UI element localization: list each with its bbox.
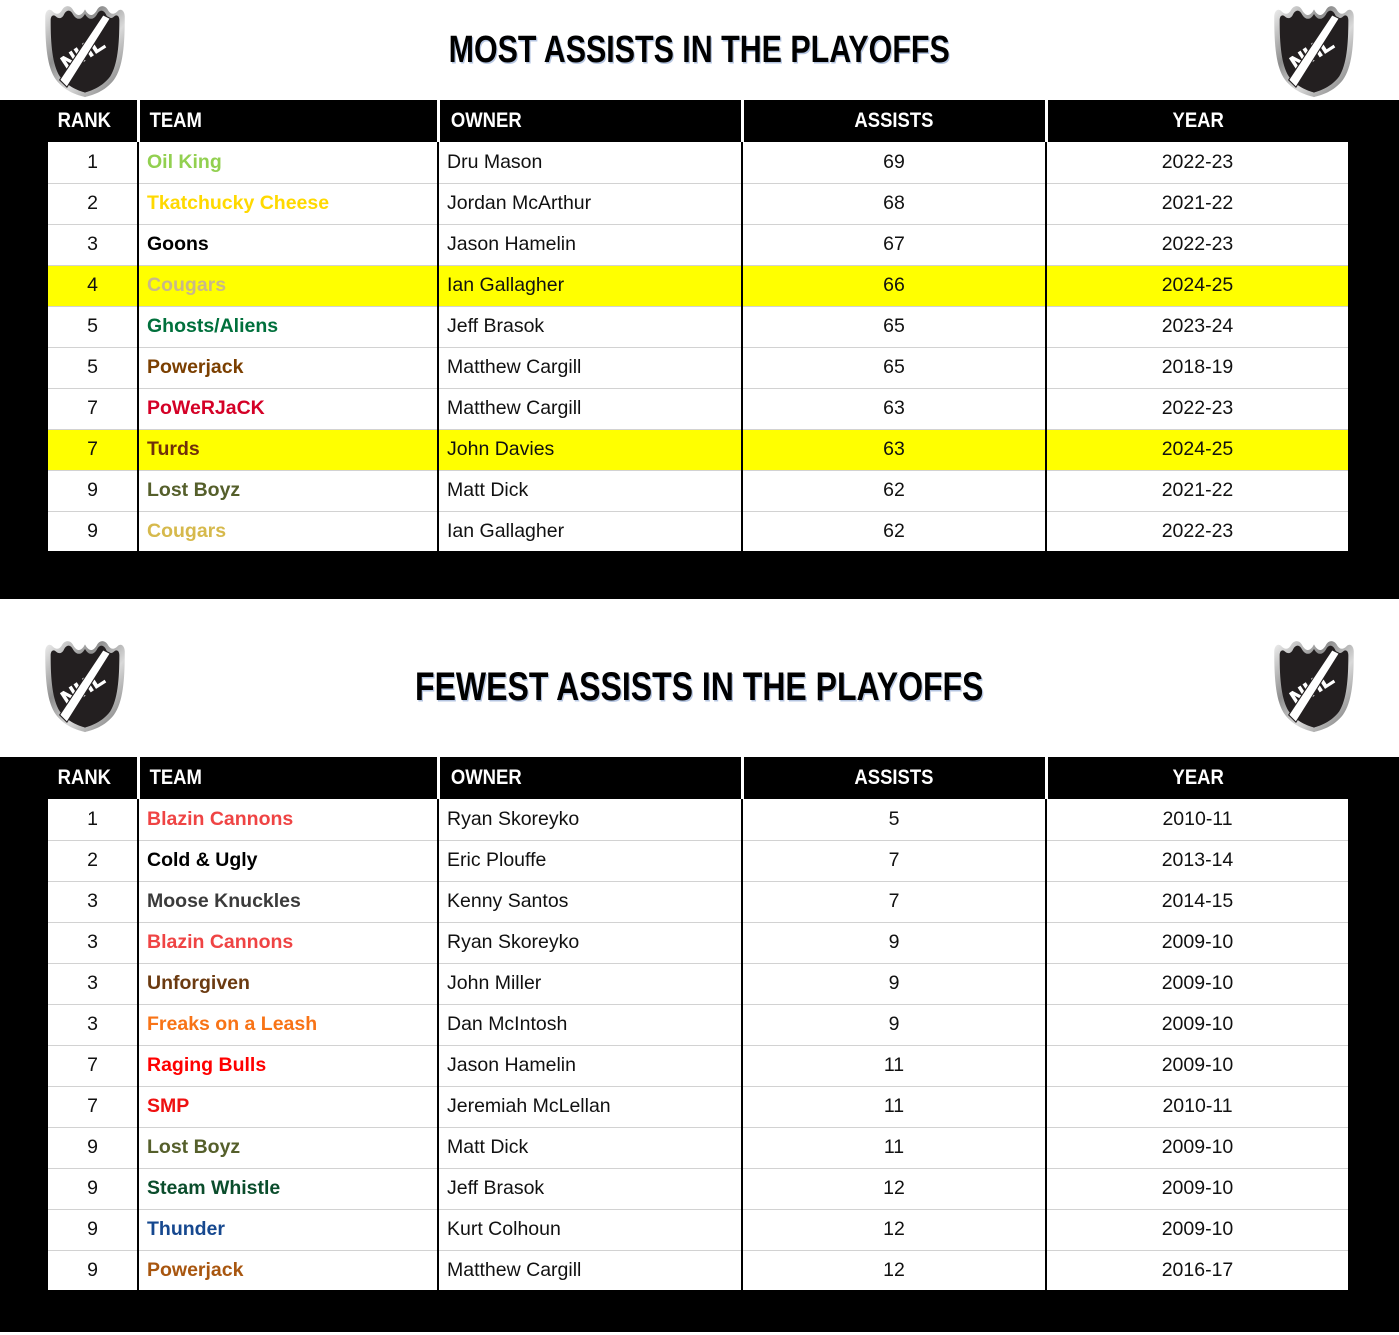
table-row[interactable]: 4CougarsIan Gallagher662024-25: [48, 265, 1348, 306]
column-header-rank[interactable]: RANK: [48, 757, 138, 799]
cell-owner: Jason Hamelin: [438, 1045, 742, 1086]
cell-year: 2013-14: [1046, 840, 1348, 881]
cell-team: Cougars: [138, 265, 438, 306]
cell-owner: Ian Gallagher: [438, 511, 742, 552]
cell-assists: 7: [742, 840, 1046, 881]
cell-year: 2021-22: [1046, 183, 1348, 224]
cell-team: Thunder: [138, 1209, 438, 1250]
cell-team: Cougars: [138, 511, 438, 552]
cell-assists: 9: [742, 922, 1046, 963]
cell-team: Unforgiven: [138, 963, 438, 1004]
column-header-assists[interactable]: ASSISTS: [742, 100, 1046, 142]
cell-team: Tkatchucky Cheese: [138, 183, 438, 224]
cell-rank: 3: [48, 922, 138, 963]
cell-owner: Jeff Brasok: [438, 1168, 742, 1209]
cell-team: Goons: [138, 224, 438, 265]
cell-owner: Matthew Cargill: [438, 388, 742, 429]
cell-year: 2022-23: [1046, 142, 1348, 183]
table-row[interactable]: 9PowerjackMatthew Cargill122016-17: [48, 1250, 1348, 1291]
panels-host: NHL MOST ASSISTS IN THE PLAYOFFS NHL RAN…: [0, 0, 1399, 1332]
table-row[interactable]: 9Steam WhistleJeff Brasok122009-10: [48, 1168, 1348, 1209]
cell-year: 2023-24: [1046, 306, 1348, 347]
cell-team: Steam Whistle: [138, 1168, 438, 1209]
table-row[interactable]: 7Raging BullsJason Hamelin112009-10: [48, 1045, 1348, 1086]
cell-assists: 62: [742, 470, 1046, 511]
table-row[interactable]: 3GoonsJason Hamelin672022-23: [48, 224, 1348, 265]
cell-assists: 11: [742, 1127, 1046, 1168]
cell-assists: 62: [742, 511, 1046, 552]
cell-year: 2016-17: [1046, 1250, 1348, 1291]
cell-assists: 65: [742, 347, 1046, 388]
table-row[interactable]: 1Blazin CannonsRyan Skoreyko52010-11: [48, 799, 1348, 840]
cell-rank: 1: [48, 142, 138, 183]
cell-assists: 69: [742, 142, 1046, 183]
table-row[interactable]: 9Lost BoyzMatt Dick112009-10: [48, 1127, 1348, 1168]
cell-assists: 12: [742, 1209, 1046, 1250]
column-header-label: RANK: [58, 109, 111, 133]
panel-title: FEWEST ASSISTS IN THE PLAYOFFS: [415, 665, 983, 710]
cell-owner: Jeremiah McLellan: [438, 1086, 742, 1127]
cell-rank: 9: [48, 1209, 138, 1250]
cell-assists: 65: [742, 306, 1046, 347]
table-row[interactable]: 7PoWeRJaCKMatthew Cargill632022-23: [48, 388, 1348, 429]
panel-title: MOST ASSISTS IN THE PLAYOFFS: [449, 29, 950, 72]
cell-owner: John Miller: [438, 963, 742, 1004]
cell-team: Powerjack: [138, 347, 438, 388]
table-row[interactable]: 9Lost BoyzMatt Dick622021-22: [48, 470, 1348, 511]
panel-footer-bar: [0, 553, 1399, 599]
cell-team: Freaks on a Leash: [138, 1004, 438, 1045]
column-header-label: YEAR: [1172, 109, 1223, 133]
table-container: RANKTEAMOWNERASSISTSYEAR1Oil KingDru Mas…: [0, 100, 1399, 553]
cell-owner: Matthew Cargill: [438, 1250, 742, 1291]
cell-rank: 2: [48, 183, 138, 224]
table-row[interactable]: 3Freaks on a LeashDan McIntosh92009-10: [48, 1004, 1348, 1045]
cell-owner: Matt Dick: [438, 470, 742, 511]
leaderboard-table: RANKTEAMOWNERASSISTSYEAR1Blazin CannonsR…: [48, 757, 1348, 1292]
cell-team: Ghosts/Aliens: [138, 306, 438, 347]
leaderboard-table: RANKTEAMOWNERASSISTSYEAR1Oil KingDru Mas…: [48, 100, 1348, 553]
cell-owner: Kenny Santos: [438, 881, 742, 922]
cell-rank: 9: [48, 1250, 138, 1291]
cell-assists: 12: [742, 1250, 1046, 1291]
cell-assists: 67: [742, 224, 1046, 265]
cell-team: Blazin Cannons: [138, 922, 438, 963]
column-header-label: RANK: [58, 766, 111, 790]
cell-owner: John Davies: [438, 429, 742, 470]
cell-year: 2009-10: [1046, 1004, 1348, 1045]
cell-owner: Jason Hamelin: [438, 224, 742, 265]
cell-year: 2009-10: [1046, 1209, 1348, 1250]
cell-assists: 68: [742, 183, 1046, 224]
cell-year: 2009-10: [1046, 1127, 1348, 1168]
cell-rank: 9: [48, 470, 138, 511]
column-header-assists[interactable]: ASSISTS: [742, 757, 1046, 799]
cell-year: 2022-23: [1046, 224, 1348, 265]
cell-team: PoWeRJaCK: [138, 388, 438, 429]
table-row[interactable]: 3UnforgivenJohn Miller92009-10: [48, 963, 1348, 1004]
cell-year: 2018-19: [1046, 347, 1348, 388]
cell-owner: Eric Plouffe: [438, 840, 742, 881]
cell-assists: 11: [742, 1045, 1046, 1086]
column-header-label: TEAM: [149, 766, 201, 790]
column-header-year[interactable]: YEAR: [1046, 100, 1348, 142]
nhl-shield-logo: NHL: [38, 4, 132, 98]
column-header-label: TEAM: [149, 109, 201, 133]
cell-assists: 12: [742, 1168, 1046, 1209]
cell-assists: 63: [742, 429, 1046, 470]
table-row[interactable]: 9CougarsIan Gallagher622022-23: [48, 511, 1348, 552]
stats-panel: NHL MOST ASSISTS IN THE PLAYOFFS NHL RAN…: [0, 0, 1399, 599]
cell-year: 2024-25: [1046, 429, 1348, 470]
panel-divider: [0, 599, 1399, 617]
cell-rank: 3: [48, 224, 138, 265]
table-row[interactable]: 1Oil KingDru Mason692022-23: [48, 142, 1348, 183]
cell-owner: Dru Mason: [438, 142, 742, 183]
cell-rank: 3: [48, 963, 138, 1004]
cell-rank: 3: [48, 881, 138, 922]
cell-rank: 9: [48, 1168, 138, 1209]
cell-rank: 7: [48, 429, 138, 470]
table-row[interactable]: 9ThunderKurt Colhoun122009-10: [48, 1209, 1348, 1250]
column-header-label: ASSISTS: [854, 766, 933, 790]
cell-rank: 7: [48, 1045, 138, 1086]
cell-team: Moose Knuckles: [138, 881, 438, 922]
table-row[interactable]: 3Blazin CannonsRyan Skoreyko92009-10: [48, 922, 1348, 963]
cell-team: Lost Boyz: [138, 1127, 438, 1168]
column-header-owner[interactable]: OWNER: [438, 100, 742, 142]
column-header-year[interactable]: YEAR: [1046, 757, 1348, 799]
cell-team: Turds: [138, 429, 438, 470]
cell-owner: Ryan Skoreyko: [438, 799, 742, 840]
cell-year: 2009-10: [1046, 1168, 1348, 1209]
cell-owner: Ian Gallagher: [438, 265, 742, 306]
cell-rank: 1: [48, 799, 138, 840]
cell-team: Cold & Ugly: [138, 840, 438, 881]
cell-assists: 63: [742, 388, 1046, 429]
table-header-row: RANKTEAMOWNERASSISTSYEAR: [48, 757, 1348, 799]
table-header-row: RANKTEAMOWNERASSISTSYEAR: [48, 100, 1348, 142]
column-header-label: OWNER: [450, 109, 521, 133]
table-row[interactable]: 5PowerjackMatthew Cargill652018-19: [48, 347, 1348, 388]
table-row[interactable]: 7TurdsJohn Davies632024-25: [48, 429, 1348, 470]
cell-year: 2010-11: [1046, 1086, 1348, 1127]
cell-year: 2021-22: [1046, 470, 1348, 511]
cell-rank: 7: [48, 1086, 138, 1127]
stats-panel: NHL FEWEST ASSISTS IN THE PLAYOFFS NHL R…: [0, 617, 1399, 1332]
column-header-label: ASSISTS: [854, 109, 933, 133]
cell-team: Powerjack: [138, 1250, 438, 1291]
table-row[interactable]: 3Moose KnucklesKenny Santos72014-15: [48, 881, 1348, 922]
panel-footer-bar: [0, 1292, 1399, 1332]
table-container: RANKTEAMOWNERASSISTSYEAR1Blazin CannonsR…: [0, 757, 1399, 1292]
cell-rank: 9: [48, 511, 138, 552]
column-header-rank[interactable]: RANK: [48, 100, 138, 142]
cell-owner: Matthew Cargill: [438, 347, 742, 388]
column-header-team[interactable]: TEAM: [138, 100, 438, 142]
table-row[interactable]: 7SMPJeremiah McLellan112010-11: [48, 1086, 1348, 1127]
cell-rank: 3: [48, 1004, 138, 1045]
cell-team: Raging Bulls: [138, 1045, 438, 1086]
cell-team: Oil King: [138, 142, 438, 183]
panel-banner: NHL MOST ASSISTS IN THE PLAYOFFS NHL: [0, 0, 1399, 100]
column-header-label: OWNER: [450, 766, 521, 790]
stats-page: NHL MOST ASSISTS IN THE PLAYOFFS NHL RAN…: [0, 0, 1399, 1335]
panel-banner: NHL FEWEST ASSISTS IN THE PLAYOFFS NHL: [0, 617, 1399, 757]
cell-assists: 11: [742, 1086, 1046, 1127]
nhl-shield-logo: NHL: [38, 639, 132, 733]
nhl-shield-logo: NHL: [1267, 4, 1361, 98]
cell-year: 2014-15: [1046, 881, 1348, 922]
cell-year: 2009-10: [1046, 1045, 1348, 1086]
table-row[interactable]: 5Ghosts/AliensJeff Brasok652023-24: [48, 306, 1348, 347]
nhl-shield-logo: NHL: [1267, 639, 1361, 733]
cell-assists: 7: [742, 881, 1046, 922]
column-header-owner[interactable]: OWNER: [438, 757, 742, 799]
cell-owner: Dan McIntosh: [438, 1004, 742, 1045]
cell-rank: 7: [48, 388, 138, 429]
cell-rank: 4: [48, 265, 138, 306]
cell-owner: Matt Dick: [438, 1127, 742, 1168]
column-header-label: YEAR: [1172, 766, 1223, 790]
cell-year: 2024-25: [1046, 265, 1348, 306]
cell-owner: Kurt Colhoun: [438, 1209, 742, 1250]
cell-assists: 66: [742, 265, 1046, 306]
cell-assists: 9: [742, 963, 1046, 1004]
column-header-team[interactable]: TEAM: [138, 757, 438, 799]
cell-team: SMP: [138, 1086, 438, 1127]
cell-year: 2022-23: [1046, 388, 1348, 429]
cell-assists: 5: [742, 799, 1046, 840]
cell-rank: 5: [48, 306, 138, 347]
cell-rank: 2: [48, 840, 138, 881]
cell-rank: 5: [48, 347, 138, 388]
cell-owner: Jordan McArthur: [438, 183, 742, 224]
cell-assists: 9: [742, 1004, 1046, 1045]
cell-team: Lost Boyz: [138, 470, 438, 511]
table-row[interactable]: 2Cold & UglyEric Plouffe72013-14: [48, 840, 1348, 881]
cell-owner: Ryan Skoreyko: [438, 922, 742, 963]
cell-owner: Jeff Brasok: [438, 306, 742, 347]
cell-team: Blazin Cannons: [138, 799, 438, 840]
cell-year: 2009-10: [1046, 922, 1348, 963]
cell-year: 2022-23: [1046, 511, 1348, 552]
cell-year: 2010-11: [1046, 799, 1348, 840]
cell-year: 2009-10: [1046, 963, 1348, 1004]
table-row[interactable]: 2Tkatchucky CheeseJordan McArthur682021-…: [48, 183, 1348, 224]
cell-rank: 9: [48, 1127, 138, 1168]
